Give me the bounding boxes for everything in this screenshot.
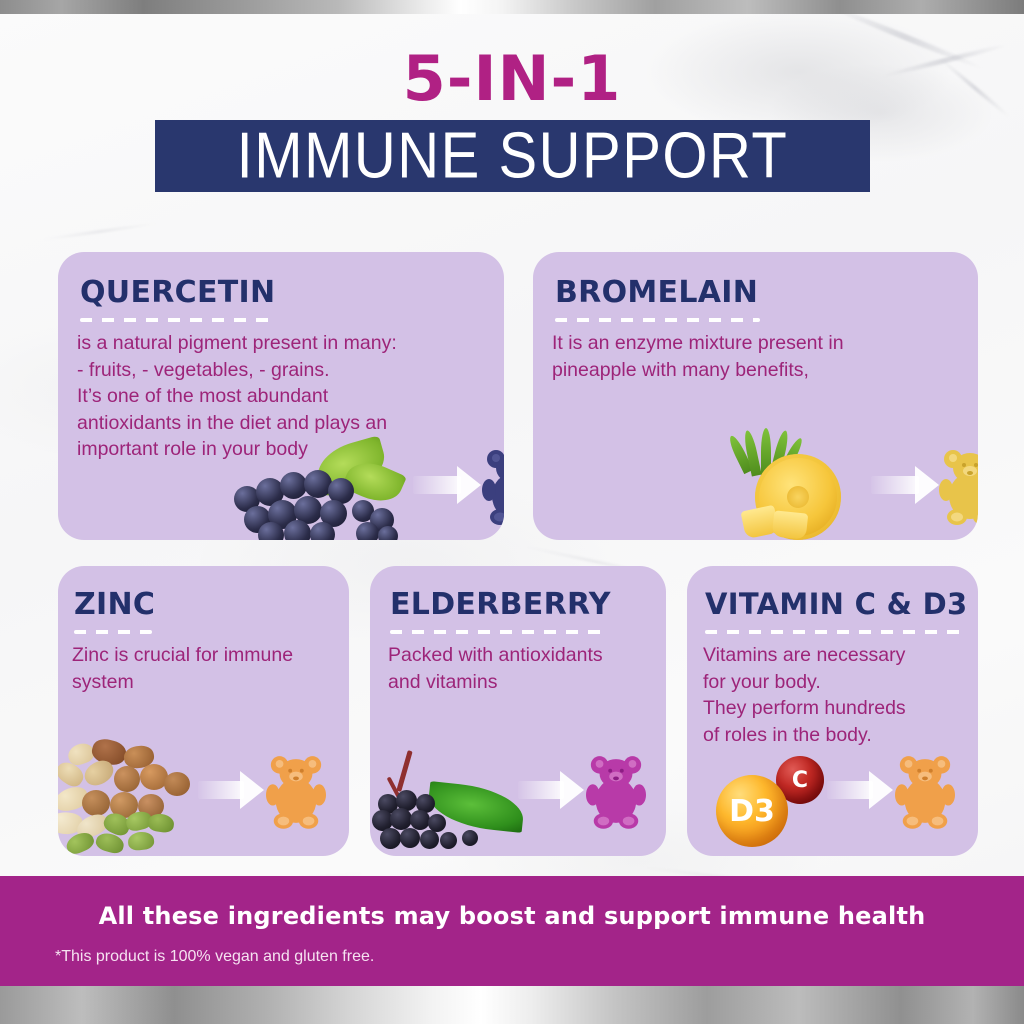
elderberries-image (370, 746, 540, 856)
card-title-elderberry: ELDERBERRY (390, 590, 611, 620)
footer-banner: All these ingredients may boost and supp… (0, 876, 1024, 986)
title-divider (555, 318, 760, 322)
pineapple-image (721, 434, 871, 540)
infographic-poster: 5-IN-1 IMMUNE SUPPORT QUERCETIN is a nat… (0, 0, 1024, 1024)
card-title-bromelain: BROMELAIN (555, 278, 758, 308)
card-elderberry[interactable]: ELDERBERRY Packed with antioxidants and … (370, 566, 666, 856)
metal-strip-bottom (0, 986, 1024, 1024)
title-divider (390, 630, 603, 634)
transform-arrow (198, 772, 264, 808)
transform-arrow (827, 772, 893, 808)
card-title-quercetin: QUERCETIN (80, 278, 275, 308)
vitamin-d3-sphere: D3 (716, 775, 788, 847)
yellow-gummy-bear (939, 446, 978, 526)
grapes-image (228, 442, 418, 540)
transform-arrow (871, 466, 939, 504)
orange-gummy-bear (895, 752, 955, 830)
orange-gummy-bear (266, 752, 326, 830)
card-body-elderberry: Packed with antioxidants and vitamins (388, 642, 658, 695)
card-vitamin-c-d3[interactable]: VITAMIN C & D3 Vitamins are necessary fo… (687, 566, 978, 856)
card-bromelain[interactable]: BROMELAIN It is an enzyme mixture presen… (533, 252, 978, 540)
transform-arrow (518, 772, 584, 808)
header: 5-IN-1 (0, 48, 1024, 110)
title-divider (74, 630, 152, 634)
card-title-zinc: ZINC (74, 590, 155, 620)
title-divider (705, 630, 962, 634)
card-title-vitamin-c-d3: VITAMIN C & D3 (705, 590, 967, 619)
page-title: IMMUNE SUPPORT (237, 124, 789, 189)
card-body-vitamin-c-d3: Vitamins are necessary for your body. Th… (703, 642, 973, 748)
purple-gummy-bear (586, 752, 646, 830)
card-body-zinc: Zinc is crucial for immune system (72, 642, 344, 695)
card-quercetin[interactable]: QUERCETIN is a natural pigment present i… (58, 252, 504, 540)
footer-banner-title: All these ingredients may boost and supp… (0, 902, 1024, 930)
eyebrow-5-in-1: 5-IN-1 (0, 48, 1024, 110)
footer-banner-subtitle: *This product is 100% vegan and gluten f… (55, 948, 374, 966)
title-divider (80, 318, 276, 322)
page-title-bar: IMMUNE SUPPORT (155, 120, 870, 192)
vitamin-d3-label: D3 (729, 794, 775, 829)
card-zinc[interactable]: ZINC Zinc is crucial for immune system (58, 566, 349, 856)
card-body-bromelain: It is an enzyme mixture present in pinea… (552, 330, 952, 383)
blue-gummy-bear (482, 446, 504, 526)
marble-vein (40, 222, 159, 242)
transform-arrow (413, 466, 481, 504)
vitamin-c-label: C (792, 768, 808, 793)
metal-strip-top (0, 0, 1024, 14)
